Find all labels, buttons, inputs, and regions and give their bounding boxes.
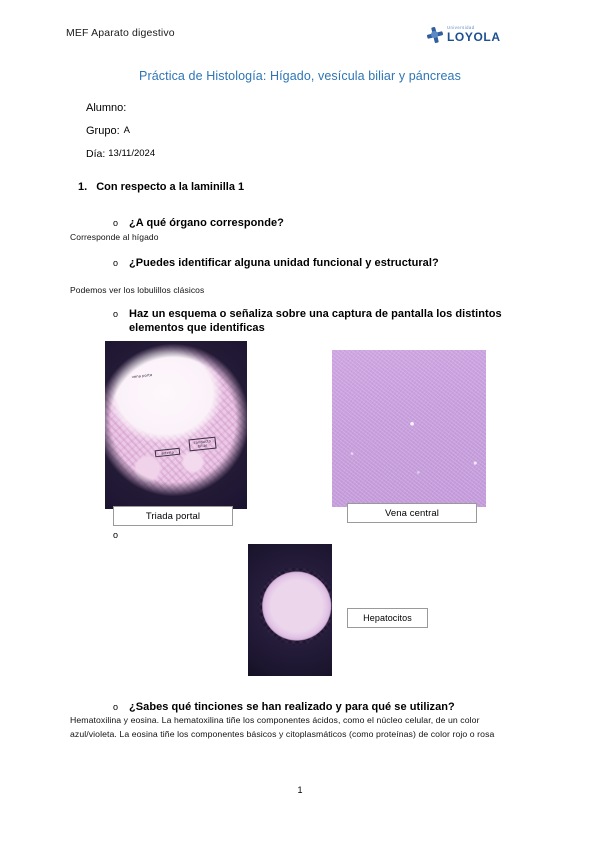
student-meta: Alumno: Grupo: A Día: 13/11/2024 bbox=[86, 96, 155, 165]
logo-name: LOYOLA bbox=[447, 31, 501, 43]
question-3-text: Haz un esquema o señaliza sobre una capt… bbox=[129, 307, 503, 335]
cross-icon bbox=[426, 26, 443, 43]
central-vein-micrograph bbox=[332, 350, 486, 507]
alumno-label: Alumno: bbox=[86, 102, 126, 114]
question-2: o ¿Puedes identificar alguna unidad func… bbox=[113, 256, 439, 270]
meta-row-dia: Día: 13/11/2024 bbox=[86, 142, 155, 165]
section-heading: 1.Con respecto a la laminilla 1 bbox=[78, 181, 244, 193]
page-title: Práctica de Histología: Hígado, vesícula… bbox=[0, 69, 600, 83]
answer-2: Podemos ver los lobulillos clásicos bbox=[70, 285, 204, 295]
page-number: 1 bbox=[0, 785, 600, 795]
document-page: MEF Aparato digestivo Universidad LOYOLA… bbox=[0, 0, 600, 848]
handwritten-annotation-arteria: arteria bbox=[155, 448, 181, 458]
question-4: o ¿Sabes qué tinciones se han realizado … bbox=[113, 700, 455, 714]
logo-wordmark: Universidad LOYOLA bbox=[447, 26, 501, 43]
dia-value[interactable]: 13/11/2024 bbox=[108, 148, 155, 159]
handwritten-annotation-vena-porta: vena porta bbox=[127, 372, 157, 380]
question-2-text: ¿Puedes identificar alguna unidad funcio… bbox=[129, 256, 439, 270]
answer-4: Hematoxilina y eosina. La hematoxilina t… bbox=[70, 714, 522, 741]
loyola-logo: Universidad LOYOLA bbox=[426, 26, 501, 43]
bullet-marker: o bbox=[113, 700, 129, 714]
bullet-marker: o bbox=[113, 307, 129, 321]
grupo-value[interactable]: A bbox=[124, 125, 130, 136]
question-4-text: ¿Sabes qué tinciones se han realizado y … bbox=[129, 700, 455, 714]
meta-row-grupo: Grupo: A bbox=[86, 119, 155, 142]
dia-label: Día: bbox=[86, 148, 105, 160]
meta-row-alumno: Alumno: bbox=[86, 96, 155, 119]
answer-1: Corresponde al hígado bbox=[70, 232, 159, 242]
label-box-vena-central[interactable]: Vena central bbox=[347, 503, 477, 523]
course-header: MEF Aparato digestivo bbox=[66, 27, 175, 39]
handwritten-annotation-conducto-biliar: conducto biliar bbox=[188, 437, 216, 452]
label-box-hepatocitos[interactable]: Hepatocitos bbox=[347, 608, 428, 628]
hepatocytes-micrograph bbox=[248, 544, 332, 676]
section-number: 1. bbox=[78, 181, 87, 193]
question-1: o ¿A qué órgano corresponde? bbox=[113, 216, 284, 230]
question-3: o Haz un esquema o señaliza sobre una ca… bbox=[113, 307, 503, 335]
question-1-text: ¿A qué órgano corresponde? bbox=[129, 216, 284, 230]
grupo-label: Grupo: bbox=[86, 125, 120, 137]
section-heading-text: Con respecto a la laminilla 1 bbox=[96, 181, 244, 193]
bullet-marker: o bbox=[113, 256, 129, 270]
portal-triad-micrograph: vena porta arteria conducto biliar bbox=[105, 341, 247, 509]
empty-bullet-marker: o bbox=[113, 530, 118, 540]
label-box-triada-portal[interactable]: Triada portal bbox=[113, 506, 233, 526]
bullet-marker: o bbox=[113, 216, 129, 230]
